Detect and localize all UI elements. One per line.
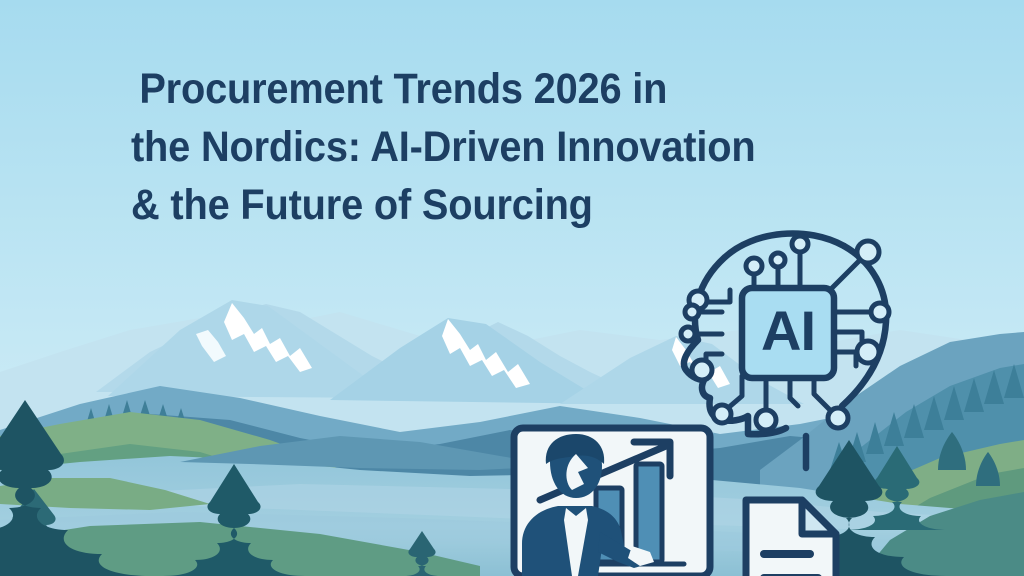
hero-illustration: AI [0, 0, 1024, 576]
scene-illustration: AI [0, 0, 1024, 576]
chart-bar-3 [636, 464, 662, 562]
presenter-chart-graphic [514, 428, 710, 576]
ai-chip-label: AI [761, 299, 815, 362]
